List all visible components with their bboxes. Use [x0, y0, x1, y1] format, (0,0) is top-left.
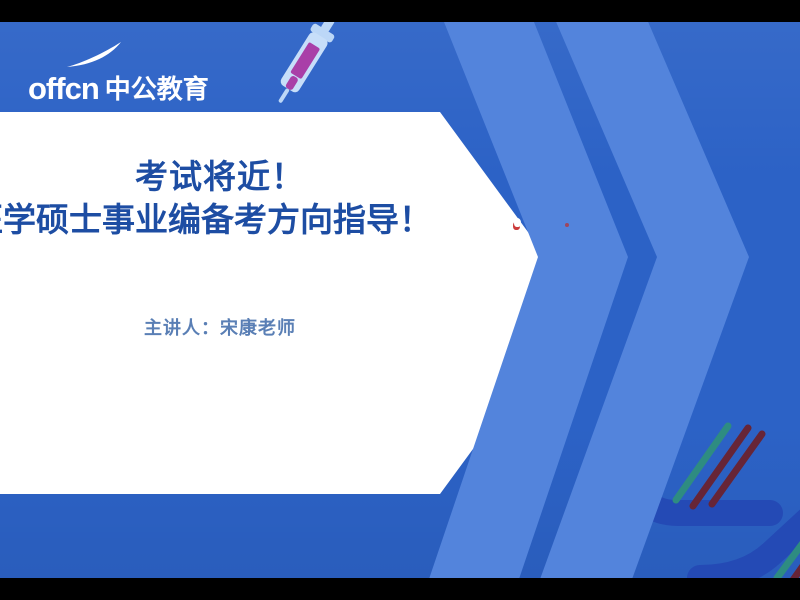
marker-dot: [514, 218, 521, 227]
slide-title-line-2: 医学硕士事业编备考方向指导！: [0, 201, 432, 240]
presentation-slide: offcn 中公教育 考试将近！ 医学硕士事业编备考方向指导！ 主讲人：宋康老师: [0, 22, 800, 578]
brand-name-chinese: 中公教育: [105, 77, 209, 104]
dna-helix-icon: [580, 328, 800, 578]
slide-title-line-1: 考试将近！: [135, 158, 305, 197]
letterbox-bottom: [0, 578, 800, 600]
slide-text-stack: 考试将近！ 医学硕士事业编备考方向指导！ 主讲人：宋康老师: [0, 112, 440, 494]
video-player-frame: offcn 中公教育 考试将近！ 医学硕士事业编备考方向指导！ 主讲人：宋康老师: [0, 0, 800, 600]
logo-bar: offcn 中公教育: [0, 22, 800, 112]
brand-wordmark: offcn: [28, 73, 99, 104]
letterbox-top: [0, 0, 800, 22]
brand-logo: offcn 中公教育: [28, 64, 209, 104]
slide-presenter: 主讲人：宋康老师: [144, 314, 296, 340]
marker-dot: [565, 223, 569, 227]
swoosh-icon: [66, 42, 122, 68]
